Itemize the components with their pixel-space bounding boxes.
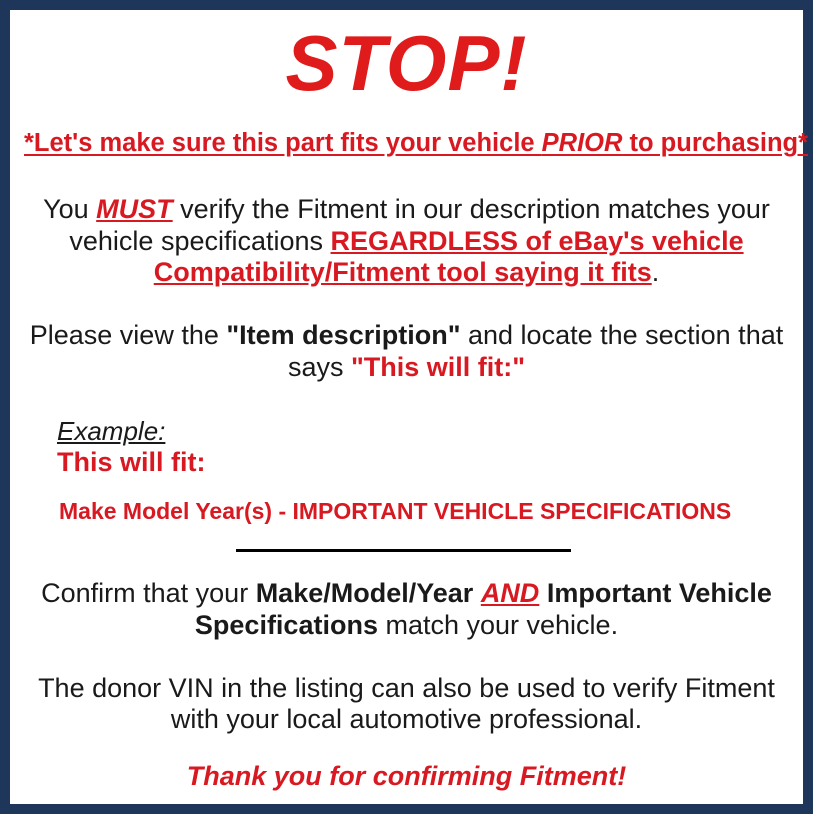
confirm-paragraph: Confirm that your Make/Model/Year AND Im… (24, 552, 789, 641)
subtitle-text-after: to purchasing* (622, 129, 808, 157)
donor-vin-paragraph: The donor VIN in the listing can also be… (24, 641, 789, 736)
make-model-year-emphasis: Make/Model/Year (256, 578, 474, 608)
example-block: Example: This will fit: Make Model Year(… (24, 383, 789, 525)
divider-container (24, 524, 789, 552)
example-this-will-fit-heading: This will fit: (57, 445, 789, 478)
fitment-notice-body: STOP! *Let's make sure this part fits yo… (10, 10, 803, 804)
subtitle-banner: *Let's make sure this part fits your veh… (24, 102, 789, 158)
and-emphasis: AND (481, 578, 540, 608)
confirm-seg-1: Confirm that your (41, 578, 256, 608)
item-description-label: "Item description" (226, 320, 460, 350)
must-seg-3: . (652, 257, 660, 287)
itemdesc-seg-1: Please view the (30, 320, 227, 350)
confirm-seg-2 (473, 578, 481, 608)
this-will-fit-quote: "This will fit:" (351, 352, 525, 382)
item-description-paragraph: Please view the "Item description" and l… (24, 288, 789, 383)
example-spec-line: Make Model Year(s) - IMPORTANT VEHICLE S… (57, 478, 789, 524)
thank-you-line: Thank you for confirming Fitment! (24, 736, 789, 792)
must-seg-1: You (43, 194, 96, 224)
must-emphasis: MUST (96, 194, 173, 224)
stop-title: STOP! (24, 10, 789, 102)
confirm-seg-3 (539, 578, 547, 608)
subtitle-text-before: *Let's make sure this part fits your veh… (24, 129, 542, 157)
must-verify-paragraph: You MUST verify the Fitment in our descr… (24, 158, 789, 288)
confirm-seg-4: match your vehicle. (378, 610, 618, 640)
example-label: Example: (57, 417, 789, 446)
subtitle-emphasis-prior: PRIOR (542, 129, 623, 157)
fitment-notice-frame: STOP! *Let's make sure this part fits yo… (0, 0, 813, 814)
